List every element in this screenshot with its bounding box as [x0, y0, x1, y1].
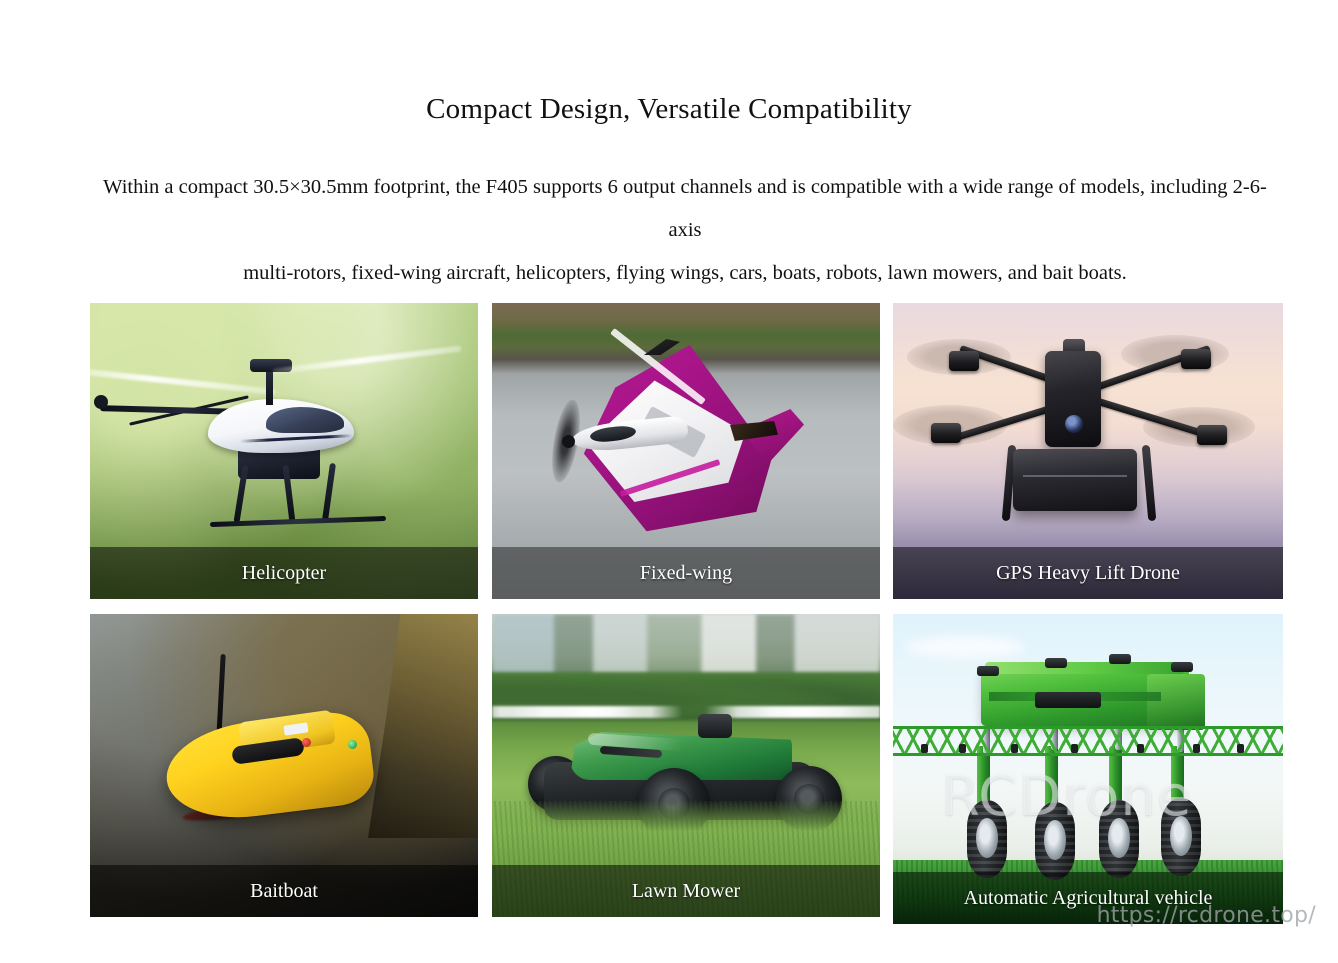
- card-caption-bar: Baitboat: [90, 865, 478, 917]
- card-caption-bar: Helicopter: [90, 547, 478, 599]
- spray-tank-rear: [1147, 674, 1205, 730]
- card-caption-bar: GPS Heavy Lift Drone: [893, 547, 1283, 599]
- card-automatic-agricultural-vehicle[interactable]: RCDrone Automatic Agricultural vehicle: [893, 614, 1283, 924]
- card-caption-label: Lawn Mower: [632, 880, 740, 903]
- card-fixed-wing[interactable]: Fixed-wing: [492, 303, 880, 599]
- propeller-hub: [562, 435, 575, 448]
- spray-tank-lid: [985, 662, 1185, 674]
- card-lawn-mower[interactable]: Lawn Mower: [492, 614, 880, 917]
- compatibility-card-grid: Helicopter Fixed-wing: [90, 303, 1284, 921]
- spray-nozzle-icon: [1137, 744, 1144, 753]
- page-description-line-1: Within a compact 30.5×30.5mm footprint, …: [95, 166, 1275, 252]
- drone-motor: [949, 351, 979, 371]
- card-caption-label: GPS Heavy Lift Drone: [996, 562, 1180, 585]
- card-helicopter[interactable]: Helicopter: [90, 303, 478, 599]
- page-title: Compact Design, Versatile Compatibility: [0, 93, 1338, 126]
- drone-motor: [1197, 425, 1227, 445]
- spray-nozzle-icon: [959, 744, 966, 753]
- strut-hub: [1171, 662, 1193, 672]
- building-backdrop: [492, 614, 880, 676]
- card-caption-bar: Lawn Mower: [492, 865, 880, 917]
- sensor-turret: [698, 714, 732, 738]
- card-caption-label: Fixed-wing: [640, 562, 732, 585]
- strut-hub: [1045, 658, 1067, 668]
- page-description: Within a compact 30.5×30.5mm footprint, …: [95, 166, 1275, 295]
- card-caption-bar: Fixed-wing: [492, 547, 880, 599]
- card-baitboat[interactable]: Baitboat: [90, 614, 478, 917]
- strut-hub: [1109, 654, 1131, 664]
- strut-hub: [977, 666, 999, 676]
- site-watermark: https://rcdrone.top/: [1097, 903, 1316, 928]
- propeller-disc-icon: [1121, 335, 1229, 373]
- spray-nozzle-icon: [1193, 744, 1200, 753]
- green-led-icon: [348, 740, 357, 749]
- payload-case: [1013, 449, 1137, 511]
- spray-nozzle-icon: [1011, 744, 1018, 753]
- tail-rotor-icon: [94, 395, 108, 409]
- drone-motor: [1181, 349, 1211, 369]
- control-module: [1035, 692, 1101, 708]
- red-led-icon: [302, 738, 311, 747]
- image-watermark: RCDrone: [941, 764, 1192, 829]
- spray-nozzle-icon: [1237, 744, 1244, 753]
- flower-bed: [492, 706, 880, 718]
- page-description-line-2: multi-rotors, fixed-wing aircraft, helic…: [95, 252, 1275, 295]
- drone-motor: [931, 423, 961, 443]
- payload-seam: [1023, 475, 1127, 477]
- spray-nozzle-icon: [921, 744, 928, 753]
- camera-lens-icon: [1065, 415, 1083, 433]
- card-caption-label: Baitboat: [250, 880, 318, 903]
- card-caption-label: Helicopter: [242, 562, 326, 585]
- spray-nozzle-icon: [1071, 744, 1078, 753]
- spray-boom: [893, 726, 1283, 756]
- cloud: [905, 636, 1025, 658]
- card-gps-heavy-lift-drone[interactable]: GPS Heavy Lift Drone: [893, 303, 1283, 599]
